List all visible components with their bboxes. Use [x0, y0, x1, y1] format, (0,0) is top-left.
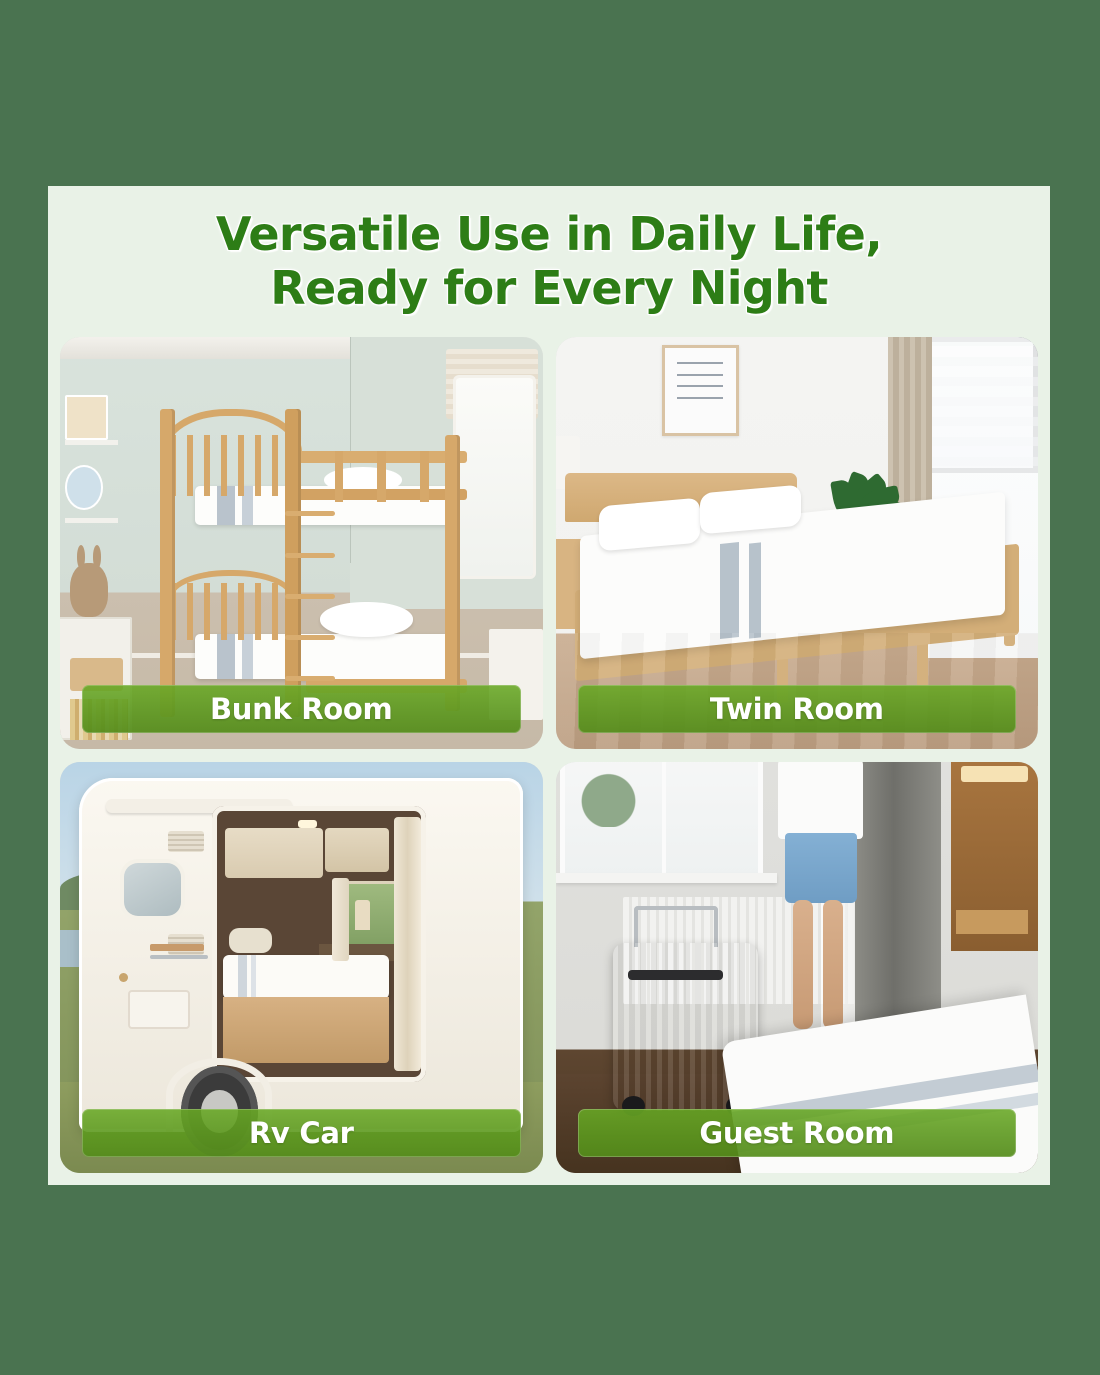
use-case-tile-rv-car[interactable]: Rv Car [60, 762, 543, 1174]
tile-label-banner-guest-room: Guest Room [578, 1109, 1017, 1157]
use-case-tile-bunk-room[interactable]: Bunk Room [60, 337, 543, 749]
page-title-line-1: Versatile Use in Daily Life, [216, 207, 882, 261]
tile-label-banner-twin-room: Twin Room [578, 685, 1017, 733]
page-title: Versatile Use in Daily Life, Ready for E… [48, 186, 1050, 316]
tile-label-rv-car: Rv Car [249, 1116, 354, 1150]
use-case-tile-guest-room[interactable]: Guest Room [556, 762, 1039, 1174]
use-case-grid: Bunk Room [60, 337, 1038, 1173]
tile-label-guest-room: Guest Room [699, 1116, 894, 1150]
tile-label-banner-rv-car: Rv Car [82, 1109, 521, 1157]
tile-label-banner-bunk-room: Bunk Room [82, 685, 521, 733]
promo-card: Versatile Use in Daily Life, Ready for E… [48, 186, 1050, 1185]
tile-label-bunk-room: Bunk Room [210, 692, 392, 726]
page-title-line-2: Ready for Every Night [48, 262, 1050, 316]
tile-label-twin-room: Twin Room [710, 692, 884, 726]
use-case-tile-twin-room[interactable]: Twin Room [556, 337, 1039, 749]
